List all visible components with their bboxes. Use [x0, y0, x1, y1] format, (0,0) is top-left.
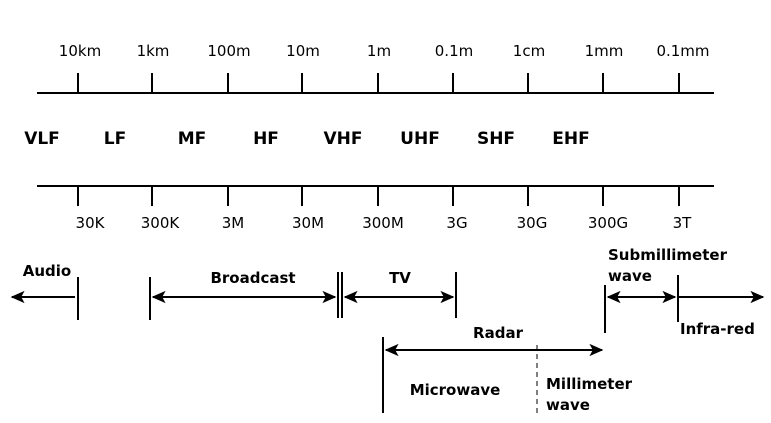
spectrum-line-art — [0, 0, 771, 423]
application-label-infrared: Infra-red — [680, 322, 755, 337]
frequency-tick-label: 30K — [76, 216, 105, 231]
band-label-vlf: VLF — [24, 131, 60, 148]
application-label-submillimeter-wave-line1: Submillimeter — [608, 248, 727, 263]
frequency-tick-label: 300M — [362, 216, 404, 231]
application-label-millimeter-wave-line2: wave — [546, 398, 590, 413]
application-label-broadcast: Broadcast — [210, 271, 295, 286]
band-label-vhf: VHF — [324, 131, 363, 148]
frequency-tick-label: 3G — [446, 216, 467, 231]
wavelength-tick-label: 1mm — [585, 44, 624, 59]
frequency-tick-label: 30G — [517, 216, 548, 231]
band-label-shf: SHF — [477, 131, 515, 148]
band-label-ehf: EHF — [552, 131, 589, 148]
frequency-tick-label: 300G — [588, 216, 628, 231]
application-label-tv: TV — [389, 271, 411, 286]
wavelength-tick-label: 1cm — [513, 44, 545, 59]
band-label-uhf: UHF — [400, 131, 440, 148]
wavelength-tick-label: 1m — [367, 44, 391, 59]
frequency-tick-label: 300K — [141, 216, 179, 231]
application-label-millimeter-wave-line1: Millimeter — [546, 377, 632, 392]
wavelength-tick-label: 10m — [286, 44, 320, 59]
application-label-microwave: Microwave — [410, 383, 501, 398]
application-label-radar: Radar — [473, 326, 523, 341]
band-label-mf: MF — [178, 131, 207, 148]
frequency-tick-label: 3T — [673, 216, 692, 231]
wavelength-tick-label: 100m — [207, 44, 250, 59]
wavelength-tick-label: 10km — [59, 44, 101, 59]
frequency-tick-label: 3M — [222, 216, 245, 231]
wavelength-tick-label: 0.1mm — [656, 44, 709, 59]
frequency-tick-label: 30M — [292, 216, 324, 231]
wavelength-tick-label: 0.1m — [435, 44, 473, 59]
band-label-hf: HF — [253, 131, 279, 148]
application-label-audio: Audio — [23, 264, 71, 279]
application-label-submillimeter-wave-line2: wave — [608, 269, 652, 284]
band-label-lf: LF — [104, 131, 126, 148]
radio-spectrum-diagram: 10km 1km 100m 10m 1m 0.1m 1cm 1mm 0.1mm … — [0, 0, 771, 423]
wavelength-tick-label: 1km — [137, 44, 170, 59]
